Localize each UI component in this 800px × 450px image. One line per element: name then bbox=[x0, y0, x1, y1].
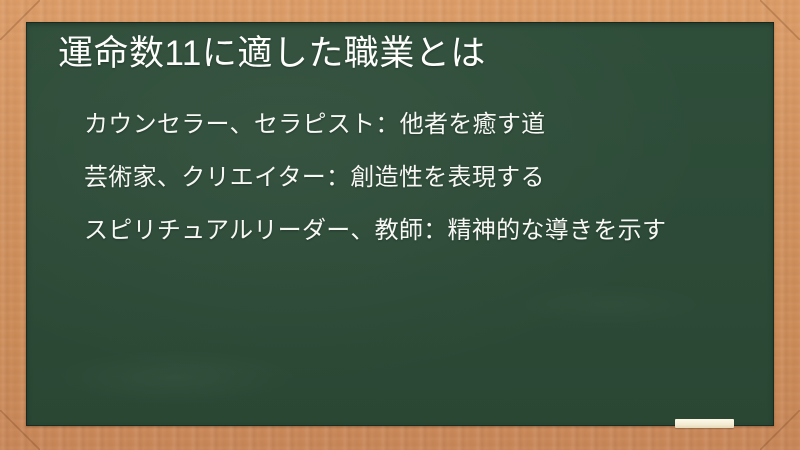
chalk-stick-icon bbox=[675, 419, 734, 428]
chalkboard-surface: 運命数11に適した職業とは カウンセラー、セラピスト：他者を癒す道 芸術家、クリ… bbox=[26, 22, 774, 426]
bullet-item: スピリチュアルリーダー、教師：精神的な導きを示す bbox=[84, 214, 722, 247]
chalkboard-content-area: 運命数11に適した職業とは カウンセラー、セラピスト：他者を癒す道 芸術家、クリ… bbox=[26, 22, 774, 426]
slide-title: 運命数11に適した職業とは bbox=[58, 32, 734, 76]
slide-root: 運命数11に適した職業とは カウンセラー、セラピスト：他者を癒す道 芸術家、クリ… bbox=[0, 0, 800, 450]
bullet-item: 芸術家、クリエイター：創造性を表現する bbox=[84, 161, 722, 194]
bullet-list: カウンセラー、セラピスト：他者を癒す道 芸術家、クリエイター：創造性を表現する … bbox=[84, 108, 722, 247]
bullet-item: カウンセラー、セラピスト：他者を癒す道 bbox=[84, 108, 722, 141]
